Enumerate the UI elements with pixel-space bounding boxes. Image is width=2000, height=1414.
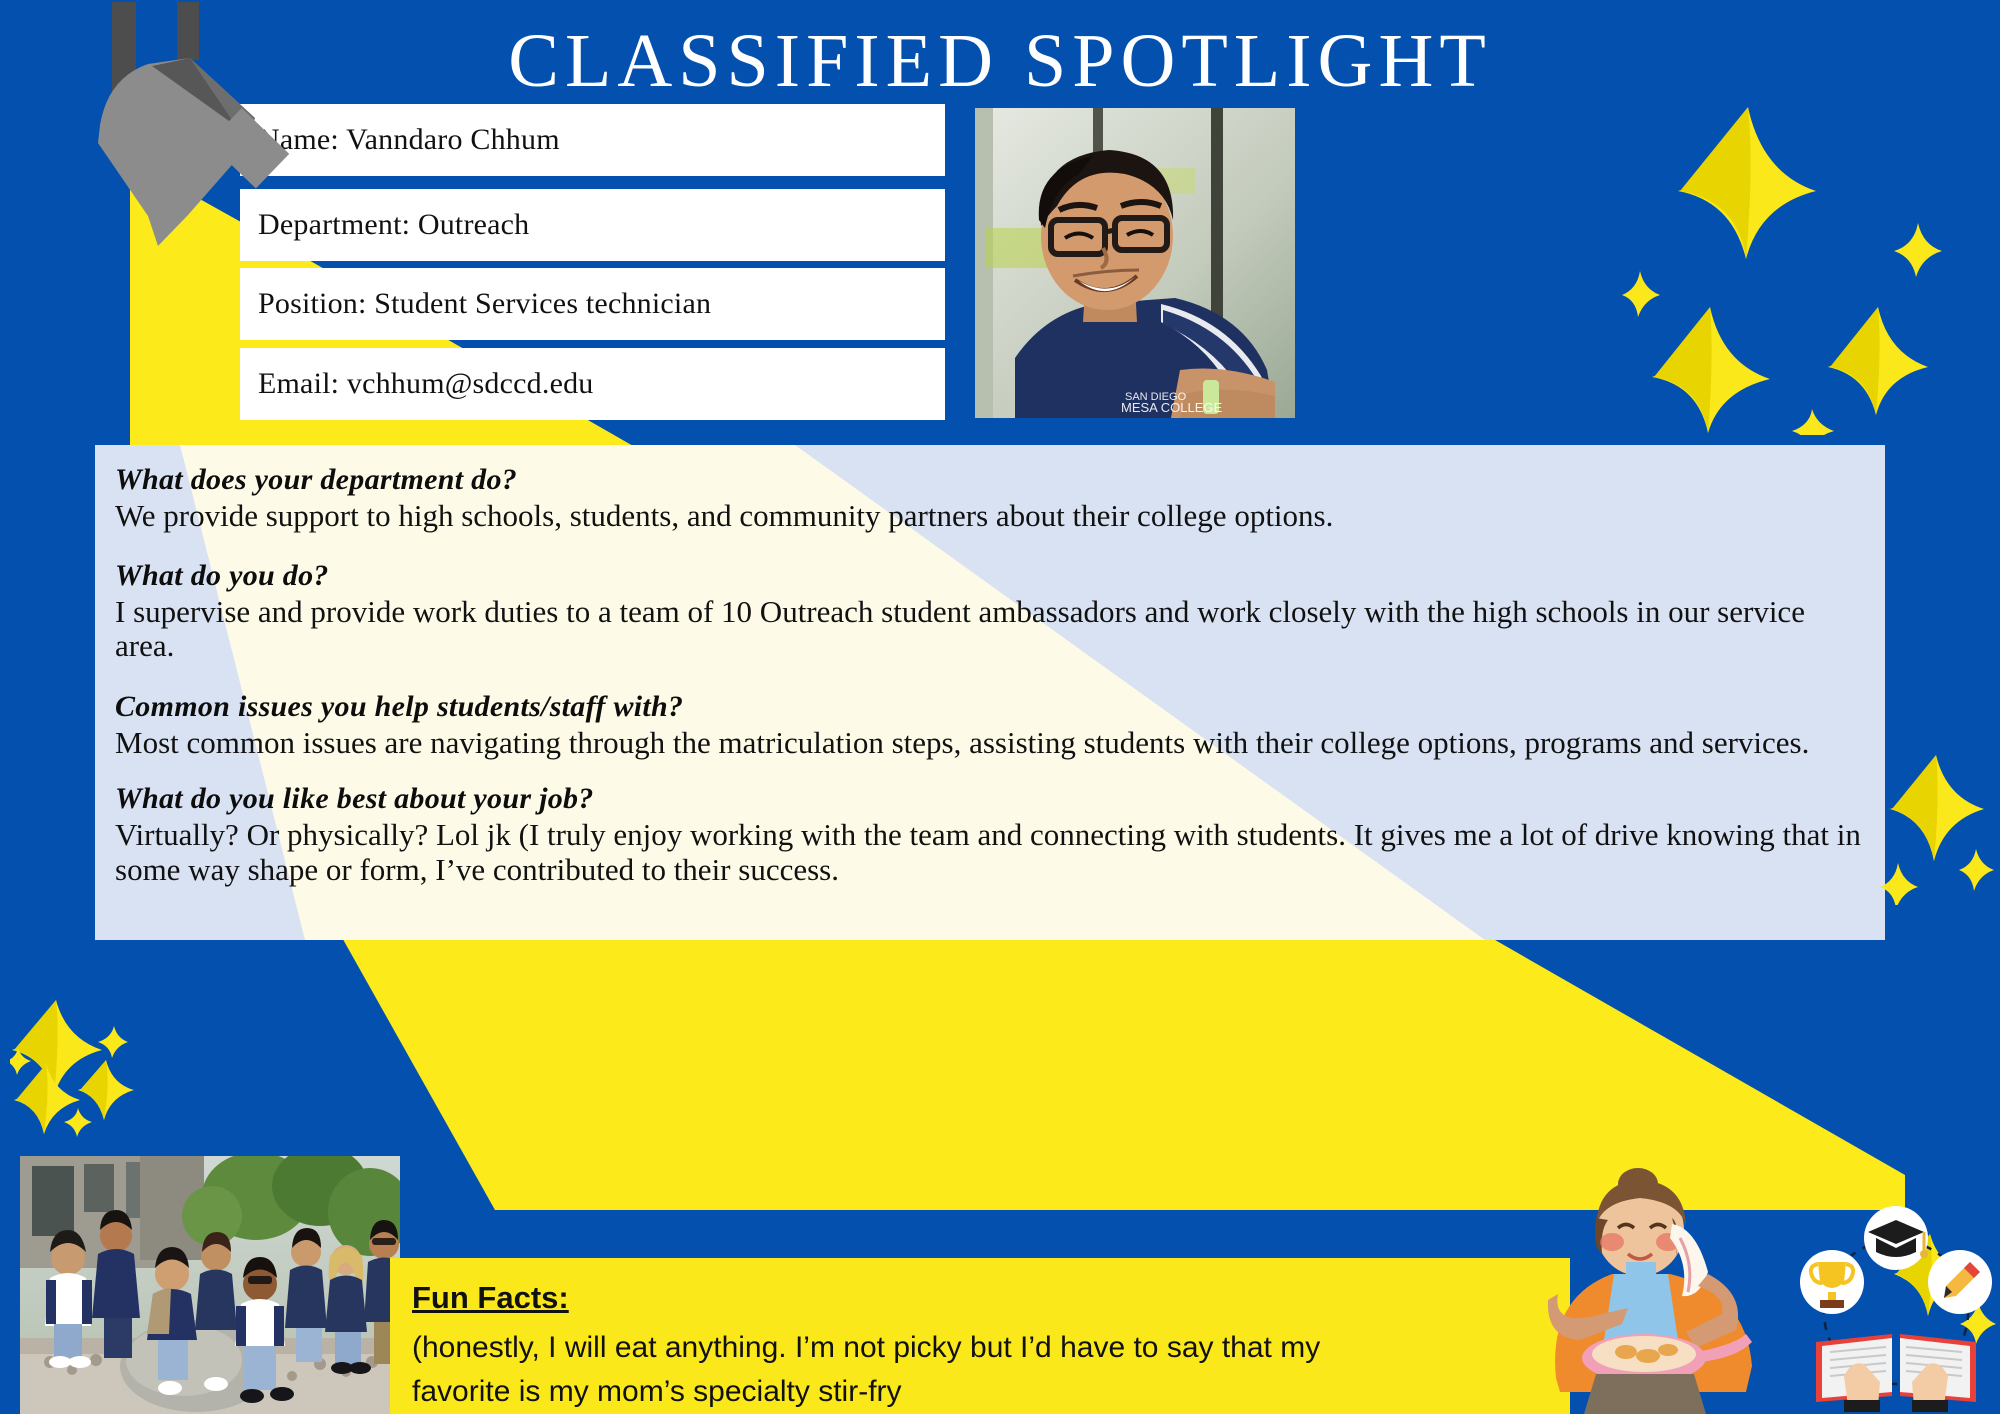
fun-facts-title: Fun Facts: [412,1280,569,1316]
group-photo [20,1156,400,1414]
sparkle-stars-middle-right [1880,745,2000,905]
portrait-photo: SAN DIEGO MESA COLLEGE [975,108,1295,418]
qa-question: What do you like best about your job? [115,780,1865,818]
info-field-email: Email: vchhum@sdccd.edu [240,348,945,420]
qa-content-panel: What does your department do? We provide… [95,445,1885,940]
qa-item-role: What do you do? I supervise and provide … [115,557,1865,664]
qa-answer: Most common issues are navigating throug… [115,726,1865,761]
info-field-email-text: Email: vchhum@sdccd.edu [240,367,593,401]
cooking-illustration [1540,1168,1790,1414]
qa-answer: I supervise and provide work duties to a… [115,595,1865,664]
info-field-name: Name: Vanndaro Chhum [240,104,945,176]
sparkle-stars-bottom-left [10,1000,160,1140]
qa-answer: We provide support to high schools, stud… [115,499,1865,534]
qa-question: What do you do? [115,557,1865,595]
info-field-position: Position: Student Services technician [240,268,945,340]
info-field-department: Department: Outreach [240,189,945,261]
qa-item-best-part: What do you like best about your job? Vi… [115,780,1865,887]
page-title: CLASSIFIED SPOTLIGHT [0,18,2000,105]
fun-facts-body: (honestly, I will eat anything. I’m not … [412,1326,1412,1413]
classified-spotlight-poster: CLASSIFIED SPOTLIGHT Name: Vanndaro Chhu… [0,0,2000,1414]
sparkle-stars-top-right [1620,95,2000,435]
spotlight-lamp-icon [40,0,300,260]
fun-facts-box: Fun Facts: (honestly, I will eat anythin… [390,1258,1570,1414]
svg-text:MESA COLLEGE: MESA COLLEGE [1121,400,1222,415]
qa-answer: Virtually? Or physically? Lol jk (I trul… [115,818,1865,887]
qa-item-common-issues: Common issues you help students/staff wi… [115,688,1865,760]
qa-question: What does your department do? [115,461,1865,499]
qa-question: Common issues you help students/staff wi… [115,688,1865,726]
education-icons-illustration [1792,1200,2000,1414]
info-field-position-text: Position: Student Services technician [240,287,711,321]
qa-item-department: What does your department do? We provide… [115,461,1865,533]
